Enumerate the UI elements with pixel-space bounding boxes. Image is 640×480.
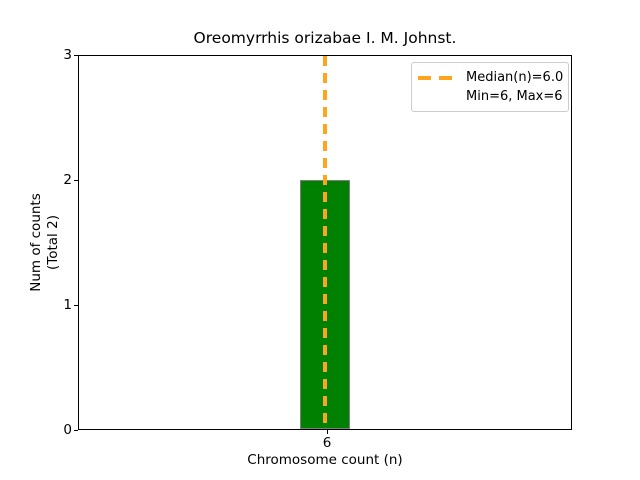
y-axis-label-line-2: (Total 2): [45, 55, 62, 430]
ytick-mark-1: [74, 305, 78, 306]
legend-label-minmax: Min=6, Max=6: [466, 89, 563, 105]
median-line: [323, 56, 327, 429]
y-axis-label: Num of counts (Total 2): [28, 55, 68, 430]
ytick-mark-3: [74, 55, 78, 56]
ytick-mark-2: [74, 180, 78, 181]
xtick-mark-6: [327, 430, 328, 434]
legend-entry-minmax: Min=6, Max=6: [418, 87, 561, 106]
xtick-label-6: 6: [307, 436, 347, 451]
legend-dashed-line-icon: [418, 76, 458, 80]
x-axis-label: Chromosome count (n): [78, 452, 572, 468]
chart-figure: Oreomyrrhis orizabae I. M. Johnst. 0 1 2…: [0, 0, 640, 480]
legend: Median(n)=6.0 Min=6, Max=6: [411, 62, 569, 112]
legend-entry-median: Median(n)=6.0: [418, 68, 561, 87]
y-axis-label-line-1: Num of counts: [28, 55, 45, 430]
legend-blank-icon: [418, 95, 458, 99]
y-axis-tick-marks: [74, 0, 78, 480]
legend-label-median: Median(n)=6.0: [466, 70, 563, 86]
chart-title: Oreomyrrhis orizabae I. M. Johnst.: [78, 28, 572, 48]
